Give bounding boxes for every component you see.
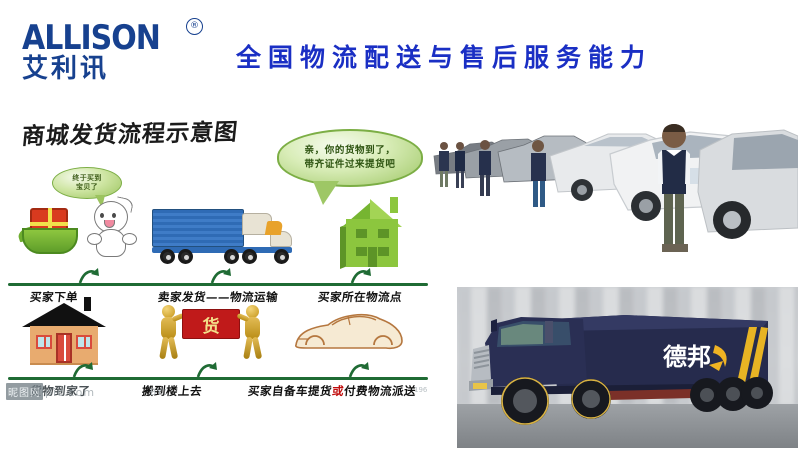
notice-line-2: 带齐证件过来提货吧: [305, 158, 396, 172]
watermark-badge: 昵图网: [6, 383, 43, 400]
flow-arrow-2: [210, 265, 232, 285]
flow-arrow-3: [350, 265, 372, 285]
watermark-code: 196: [414, 386, 427, 394]
gift-basket-icon: [22, 202, 78, 254]
flow-arrow-6: [348, 359, 370, 379]
logo-wordmark: ALLISON: [22, 22, 212, 56]
goods-carriers-icon: 货: [156, 303, 266, 363]
fleet-photo: [432, 112, 798, 270]
watermark-by-label: BY：: [150, 385, 173, 398]
buyer-speech-line2: 宝贝了: [76, 183, 98, 192]
notice-line-1: 亲，你的货物到了，: [305, 144, 396, 158]
svg-text:德邦: 德邦: [663, 342, 711, 371]
goods-box-label: 货: [183, 310, 239, 338]
flow-label-row2-3-tail: 付费物流派送: [343, 384, 416, 398]
stock-site-watermark: 昵图网pic.com: [6, 383, 246, 403]
buyer-car-sketch-icon: [288, 301, 408, 361]
cartoon-buyer-icon: [88, 201, 134, 257]
slide-root: ALLISON ® 艾利讯 全国物流配送与售后服务能力 商城发货流程示意图 终于…: [0, 0, 800, 450]
flow-arrow-5: [196, 359, 218, 379]
registered-trademark-icon: ®: [186, 18, 203, 35]
logo-chinese-name: 艾利讯: [22, 56, 212, 83]
page-title: 全国物流配送与售后服务能力: [236, 38, 756, 74]
flow-label-row2-3: 买家自备车提货或付费物流派送: [247, 383, 417, 399]
logistics-notice-speech-bubble: 亲，你的货物到了， 带齐证件过来提货吧: [277, 129, 423, 187]
buyer-home-house-icon: [22, 297, 106, 363]
blue-delivery-truck-icon: [152, 209, 288, 265]
shipping-flow-diagram: 商城发货流程示意图 终于买到 宝贝了: [0, 105, 436, 415]
buyer-speech-bubble: 终于买到 宝贝了: [52, 167, 122, 199]
company-logo: ALLISON ® 艾利讯: [22, 22, 212, 90]
flow-diagram-heading: 商城发货流程示意图: [20, 112, 240, 151]
flow-arrow-4: [72, 359, 94, 379]
logistics-point-house-icon: [340, 197, 406, 269]
watermark-site: pic.com: [45, 386, 95, 399]
flow-label-row2-3-main: 买家自备车提货: [247, 384, 332, 398]
deppon-truck-photo: 德邦: [457, 287, 798, 448]
flow-arrow-1: [78, 265, 100, 285]
